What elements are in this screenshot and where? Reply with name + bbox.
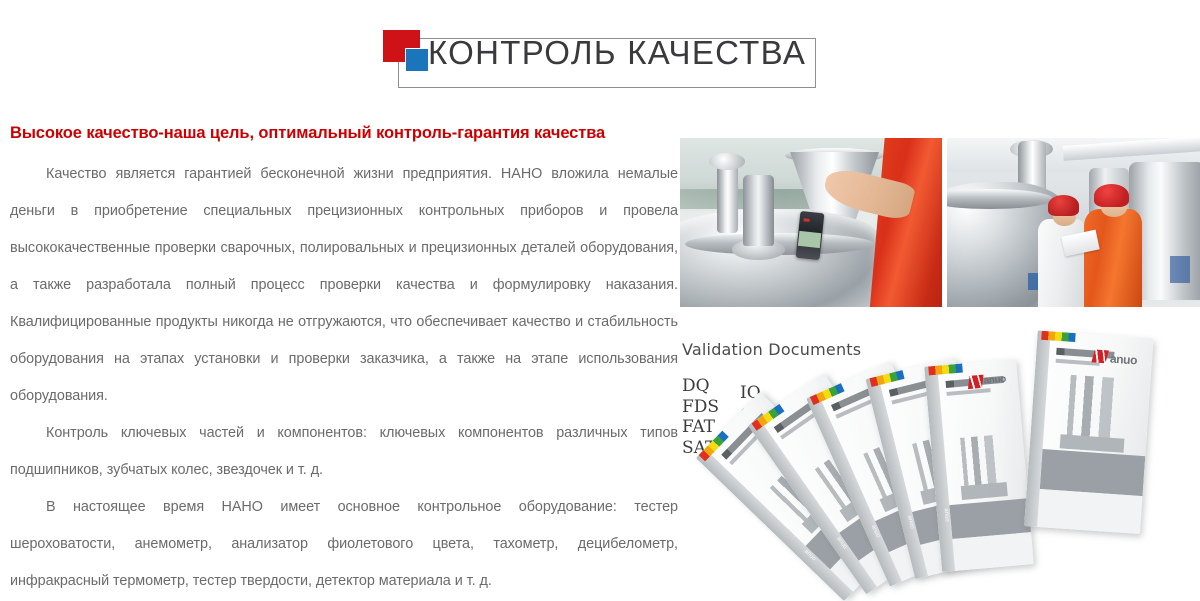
- anuo-logo-wordmark: anuo: [983, 374, 1006, 387]
- photo2-blue-background-box: [1170, 256, 1190, 283]
- page-header: КОНТРОЛЬ КАЧЕСТВА: [0, 0, 1200, 110]
- paragraph-inspection-equipment: В настоящее время НАНО имеет основное ко…: [10, 489, 678, 600]
- photo2-red-hardhat-right: [1094, 184, 1129, 208]
- validation-item-fds: FDS: [682, 397, 719, 418]
- booklet-base: [952, 532, 1033, 571]
- photo1-meter-button-red: [804, 218, 810, 222]
- anuo-logo: anuo: [968, 373, 1009, 389]
- photo1-handheld-meter: [795, 211, 823, 261]
- anuo-logo-wordmark: anuo: [1110, 352, 1138, 368]
- photo1-steel-tank: [680, 209, 879, 307]
- photo-inspection-device: [680, 138, 942, 307]
- anuo-logo: anuo: [1093, 349, 1142, 367]
- booklet-equipment-illustration: [953, 434, 1012, 500]
- brand-logo: [383, 30, 429, 73]
- photo-row: [680, 138, 1200, 307]
- lead-heading: Высокое качество-наша цель, оптимальный …: [10, 122, 678, 144]
- validation-item-dq: DQ: [682, 376, 719, 397]
- validation-item-fat: FAT: [682, 417, 719, 438]
- anuo-logo-glyph-icon: [1091, 349, 1109, 363]
- booklet-subtitle-line: [946, 388, 990, 396]
- photo1-meter-display: [798, 231, 821, 248]
- photo-team-inspection: [947, 138, 1200, 307]
- photo2-red-hardhat-left: [1048, 195, 1078, 215]
- validation-document-fan-image: anuo anuo anuo anuo: [828, 318, 1200, 568]
- page-title: КОНТРОЛЬ КАЧЕСТВА: [428, 31, 828, 75]
- booklet-front: anuo: [1024, 330, 1153, 534]
- anuo-logo-glyph-icon: [968, 375, 984, 389]
- booklet: anuo anuo: [924, 359, 1034, 572]
- booklet-equipment-illustration: [1056, 374, 1133, 453]
- logo-blue-square-icon: [405, 48, 429, 72]
- paragraph-key-components: Контроль ключевых частей и компонентов: …: [10, 415, 678, 489]
- paragraph-quality-policy: Качество является гарантией бесконечной …: [10, 156, 678, 415]
- booklet-color-strip: [928, 363, 963, 375]
- booklet-base: [1037, 489, 1142, 534]
- article-text-column: Высокое качество-наша цель, оптимальный …: [10, 122, 678, 600]
- photo1-steel-cylinder: [743, 175, 774, 246]
- photo2-worker-coveralls: [1084, 209, 1142, 307]
